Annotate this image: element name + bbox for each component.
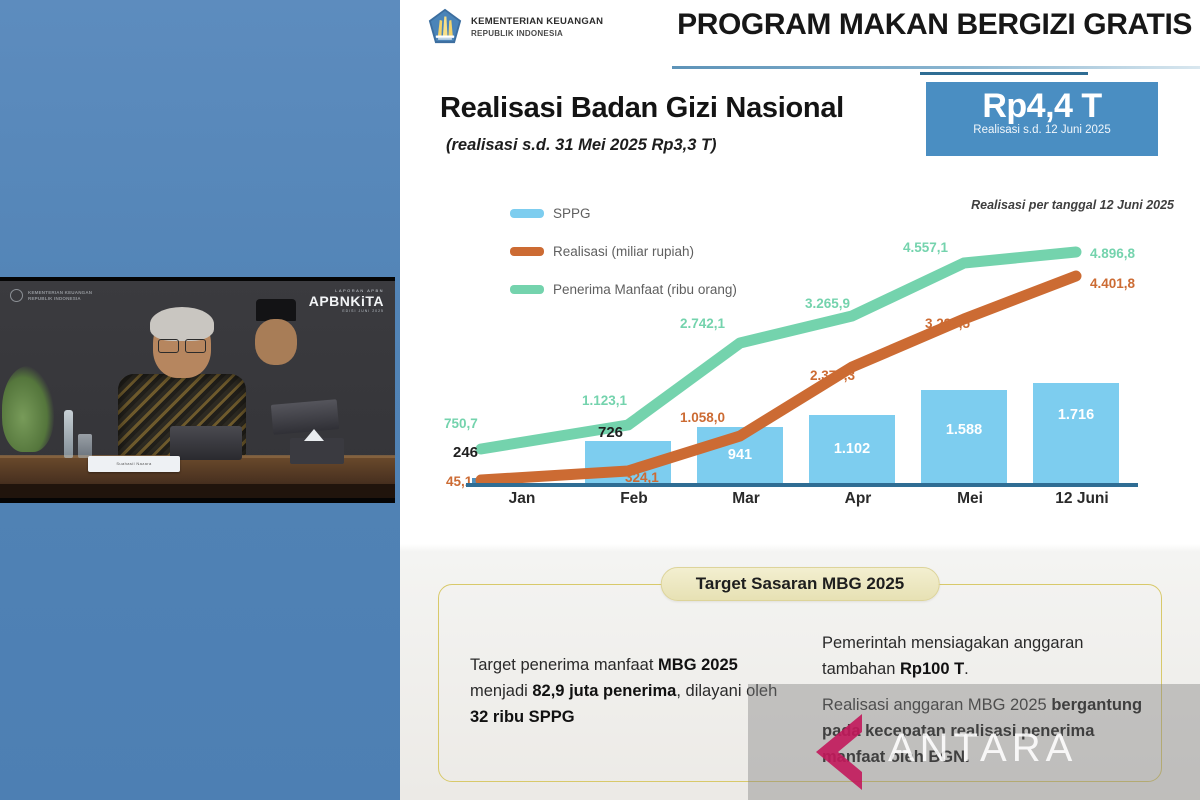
kemenkeu-logo-block: KEMENTERIAN KEUANGAN REPUBLIK INDONESIA bbox=[427, 8, 603, 46]
x-label-apr: Apr bbox=[802, 490, 914, 508]
label-penerima-apr: 3.265,9 bbox=[805, 296, 850, 311]
peci-cap bbox=[256, 299, 296, 321]
t-r1-b: Rp100 T bbox=[900, 660, 964, 678]
table-front bbox=[0, 484, 395, 498]
x-label-12juni: 12 Juni bbox=[1026, 490, 1138, 508]
apbnkita-edition-label: EDISI JUNI 2025 bbox=[309, 309, 384, 313]
apbnkita-logo-text: APBNKiTA bbox=[309, 293, 384, 309]
label-penerima-feb: 1.123,1 bbox=[582, 393, 627, 408]
chart-axis-line bbox=[466, 483, 1138, 487]
video-stream-panel: Suahasil Nazara KEMENTERIAN KEUANGAN REP… bbox=[0, 0, 400, 800]
t-l-3: 82,9 juta penerima bbox=[532, 682, 676, 700]
kpi-value: Rp4,4 T bbox=[926, 86, 1158, 126]
t-l-5: 32 ribu SPPG bbox=[470, 708, 575, 726]
label-realisasi-jan: 45,1 bbox=[446, 474, 472, 489]
chart-x-axis-labels: Jan Feb Mar Apr Mei 12 Juni bbox=[466, 490, 1138, 508]
label-penerima-mar: 2.742,1 bbox=[680, 316, 725, 331]
slide-header: KEMENTERIAN KEUANGAN REPUBLIK INDONESIA … bbox=[400, 0, 1200, 72]
header-divider bbox=[672, 66, 1200, 69]
video-frame[interactable]: Suahasil Nazara KEMENTERIAN KEUANGAN REP… bbox=[0, 277, 395, 503]
x-label-feb: Feb bbox=[578, 490, 690, 508]
target-left-text: Target penerima manfaat MBG 2025 menjadi… bbox=[470, 652, 786, 730]
drinking-glass bbox=[78, 434, 92, 458]
line-penerima-manfaat bbox=[481, 252, 1076, 449]
label-realisasi-mar: 1.058,0 bbox=[680, 410, 725, 425]
kemenkeu-watermark: KEMENTERIAN KEUANGAN REPUBLIK INDONESIA bbox=[10, 289, 92, 302]
kemenkeu-watermark-line1: KEMENTERIAN KEUANGAN bbox=[28, 290, 92, 296]
plant-decor bbox=[2, 366, 54, 452]
laptop-device bbox=[170, 426, 242, 460]
name-plate: Suahasil Nazara bbox=[88, 456, 180, 472]
screenshot-root: Suahasil Nazara KEMENTERIAN KEUANGAN REP… bbox=[0, 0, 1200, 800]
page-title: PROGRAM MAKAN BERGIZI GRATIS bbox=[677, 8, 1192, 42]
section-title: Realisasi Badan Gizi Nasional bbox=[440, 92, 844, 125]
section-subtitle: (realisasi s.d. 31 Mei 2025 Rp3,3 T) bbox=[446, 136, 717, 155]
x-label-mar: Mar bbox=[690, 490, 802, 508]
line-realisasi bbox=[481, 276, 1076, 480]
eyeglasses bbox=[158, 339, 206, 351]
kemenkeu-seal-icon bbox=[10, 289, 23, 302]
section-header: Realisasi Badan Gizi Nasional (realisasi… bbox=[400, 92, 1200, 180]
label-penerima-12juni: 4.896,8 bbox=[1090, 246, 1135, 261]
logo-line-1: KEMENTERIAN KEUANGAN bbox=[471, 16, 603, 28]
watermark-band bbox=[748, 684, 1200, 800]
target-right-text-1: Pemerintah mensiagakan anggaran tambahan… bbox=[822, 630, 1144, 682]
label-penerima-mei: 4.557,1 bbox=[903, 240, 948, 255]
label-realisasi-12juni: 4.401,8 bbox=[1090, 276, 1135, 291]
label-realisasi-mei: 3.297,5 bbox=[925, 316, 970, 331]
kemenkeu-logo-icon bbox=[427, 8, 463, 46]
header-divider-accent bbox=[920, 72, 1088, 75]
chart-lines bbox=[400, 188, 1200, 518]
person-hair bbox=[150, 307, 214, 341]
chart-plot-area: 726 941 1.102 1.588 1.716 bbox=[400, 188, 1200, 518]
label-sppg-feb: 726 bbox=[598, 424, 623, 441]
t-l-2: menjadi bbox=[470, 682, 532, 700]
name-plate-label: Suahasil Nazara bbox=[88, 461, 180, 466]
person-head bbox=[153, 312, 211, 378]
tissue-box bbox=[290, 438, 344, 464]
x-label-jan: Jan bbox=[466, 490, 578, 508]
presentation-slide: KEMENTERIAN KEUANGAN REPUBLIK INDONESIA … bbox=[400, 0, 1200, 800]
t-l-1: MBG 2025 bbox=[658, 656, 738, 674]
kemenkeu-watermark-line2: REPUBLIK INDONESIA bbox=[28, 296, 92, 302]
combo-chart: Realisasi per tanggal 12 Juni 2025 SPPG … bbox=[400, 188, 1200, 518]
t-l-0: Target penerima manfaat bbox=[470, 656, 658, 674]
tablet-secondary bbox=[271, 399, 339, 435]
label-sppg-jan: 246 bbox=[453, 444, 478, 461]
apbnkita-watermark: LAPORAN APBN APBNKiTA EDISI JUNI 2025 bbox=[309, 288, 384, 313]
logo-line-2: REPUBLIK INDONESIA bbox=[471, 28, 603, 39]
kpi-caption: Realisasi s.d. 12 Juni 2025 bbox=[926, 124, 1158, 136]
person-head bbox=[255, 319, 297, 365]
kpi-badge: Rp4,4 T Realisasi s.d. 12 Juni 2025 bbox=[926, 82, 1158, 156]
water-bottle bbox=[64, 410, 73, 458]
t-r1-c: . bbox=[964, 660, 969, 678]
label-realisasi-apr: 2.375,3 bbox=[810, 368, 855, 383]
label-penerima-jan: 750,7 bbox=[444, 416, 478, 431]
target-badge: Target Sasaran MBG 2025 bbox=[661, 567, 940, 601]
x-label-mei: Mei bbox=[914, 490, 1026, 508]
